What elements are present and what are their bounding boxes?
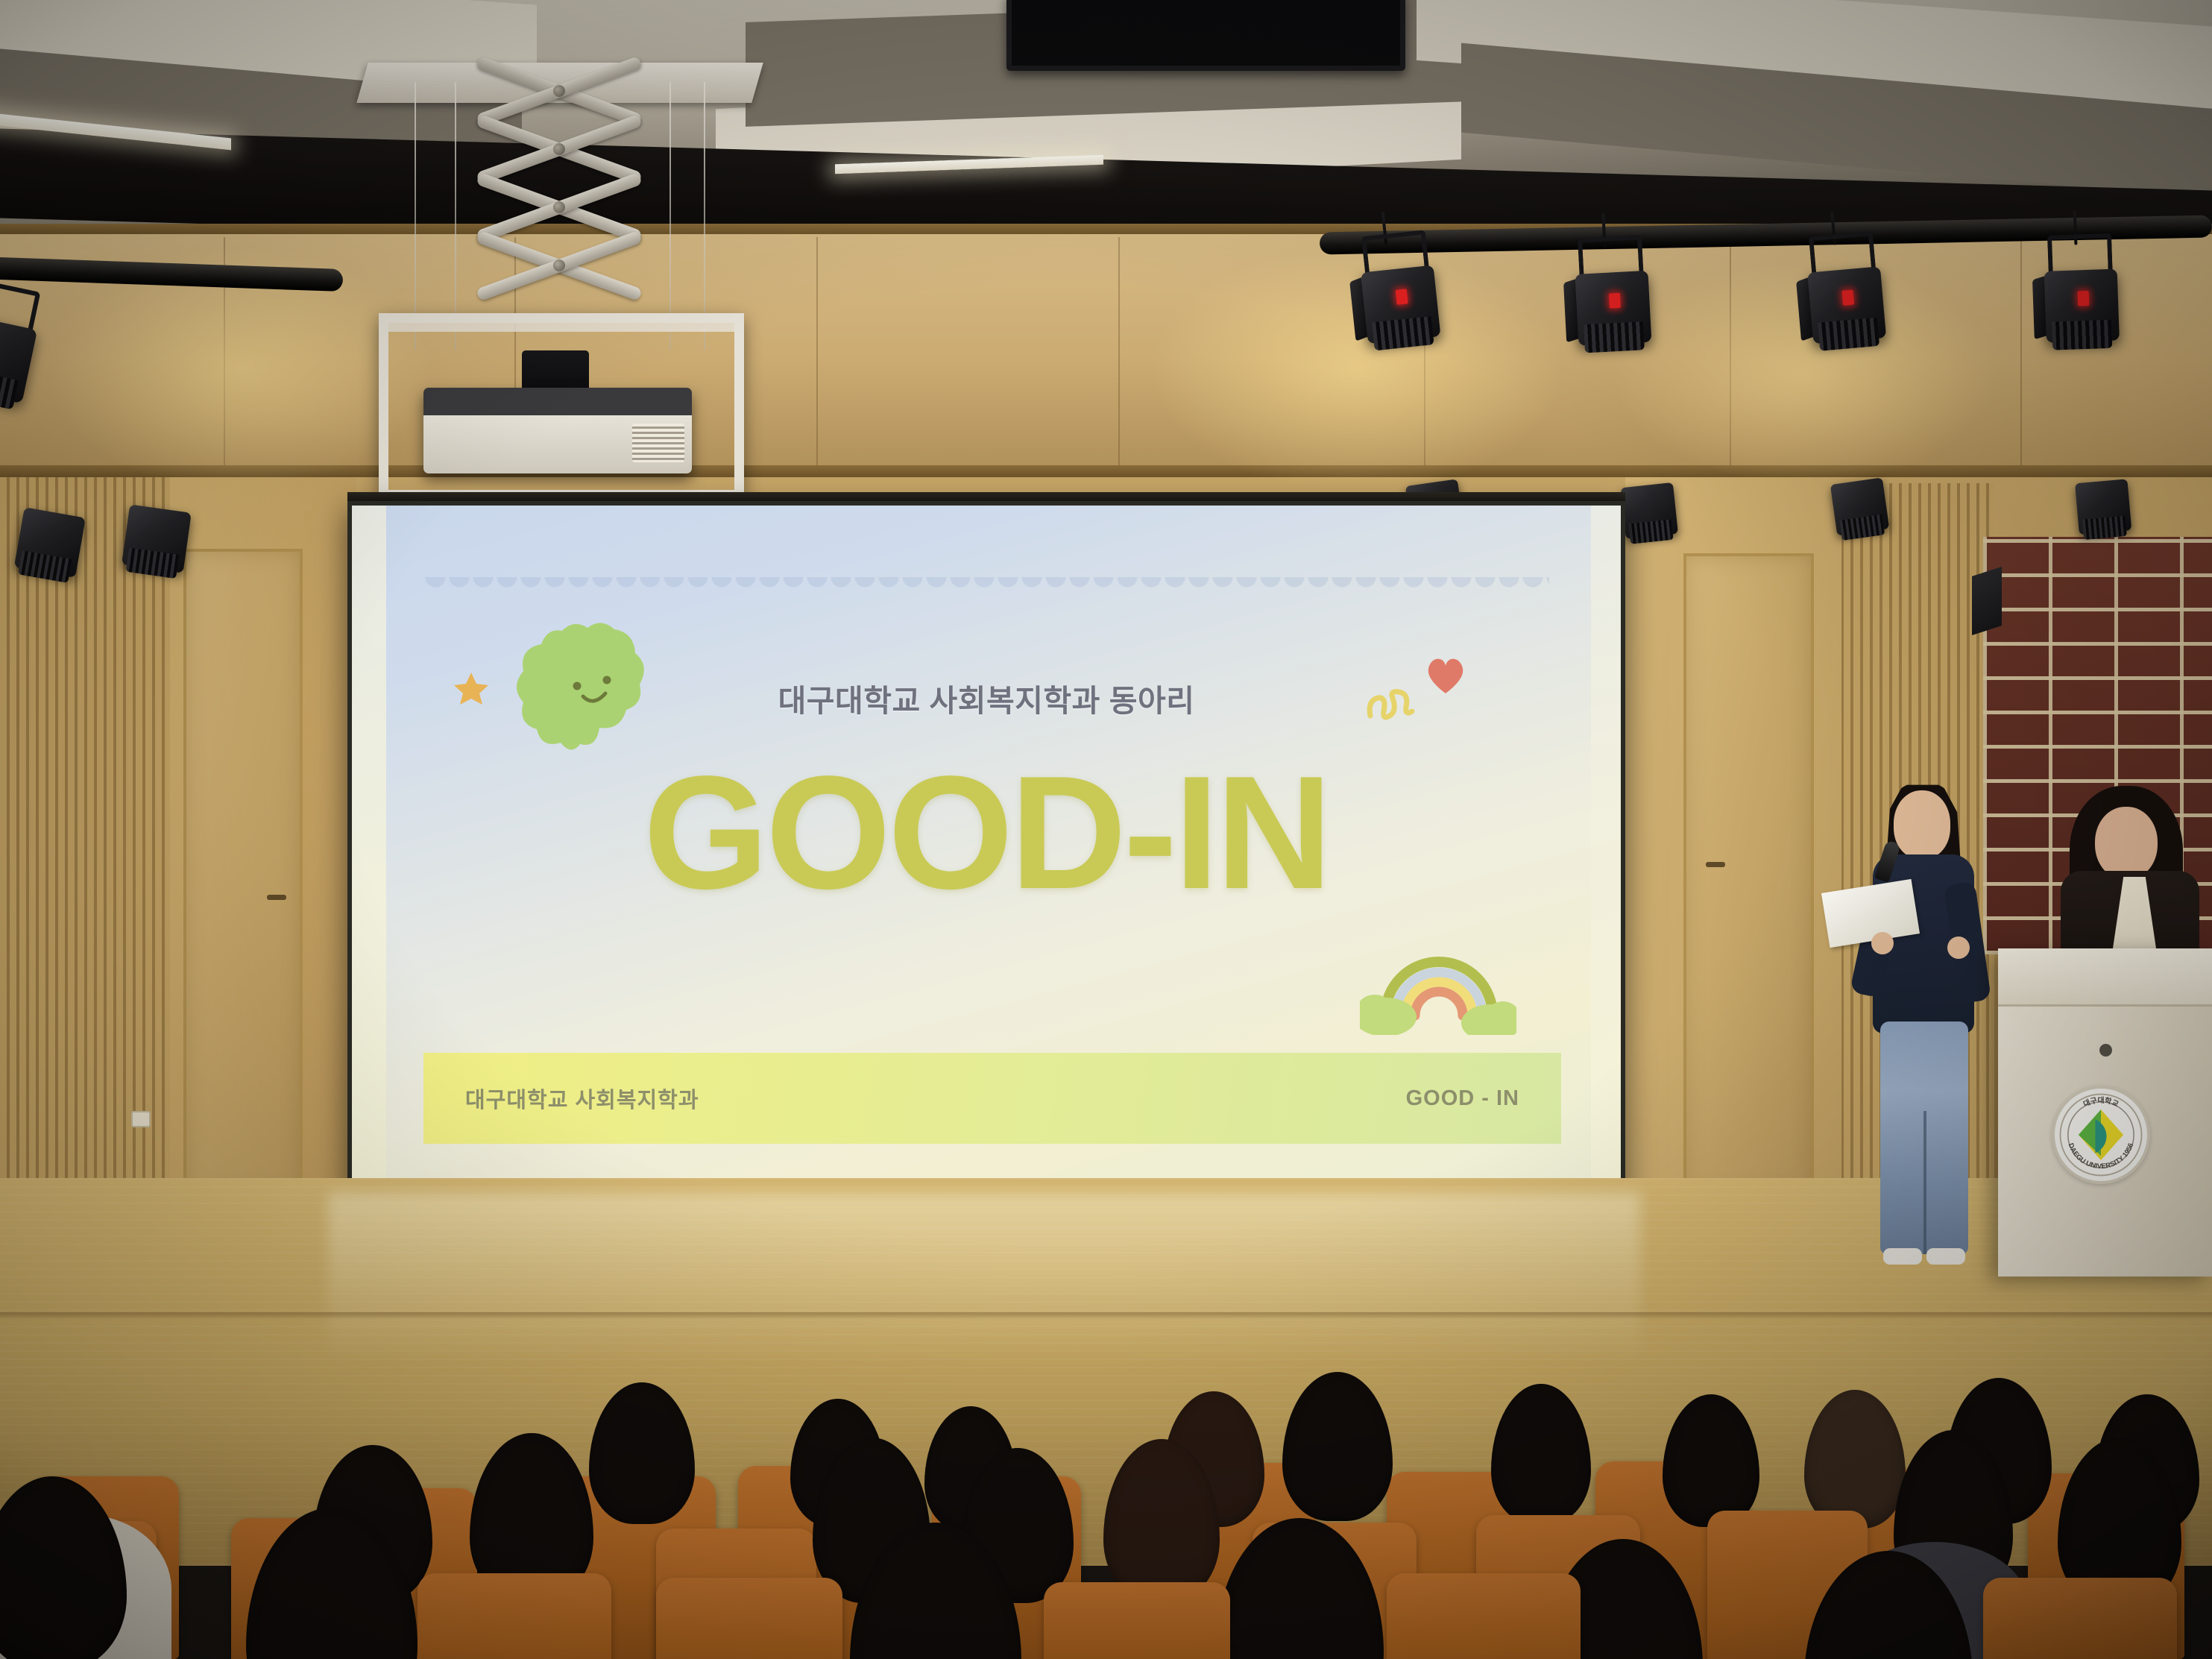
door-left-handle[interactable] bbox=[267, 895, 286, 900]
presenter-jeans bbox=[1880, 1021, 1968, 1254]
audience-head bbox=[589, 1382, 695, 1524]
wall-seam bbox=[2020, 237, 2022, 465]
audience-head bbox=[1663, 1394, 1759, 1527]
slide-footer-band: 대구대학교 사회복지학과 GOOD - IN bbox=[423, 1053, 1561, 1144]
audience-head bbox=[1282, 1372, 1393, 1521]
presenter-head bbox=[1894, 790, 1950, 859]
slide-canvas: 대구대학교 사회복지학과 동아리 GOOD-IN 대구대학교 사회복지학과 GO… bbox=[352, 506, 1621, 1206]
door-right-handle[interactable] bbox=[1706, 862, 1725, 867]
lectern-knob[interactable] bbox=[2099, 1044, 2112, 1057]
wall-trim-lower bbox=[0, 465, 2212, 477]
light-heatsink bbox=[1584, 321, 1645, 353]
light-power-led bbox=[1841, 290, 1854, 306]
ceiling-monitor bbox=[1006, 0, 1405, 71]
audience-head bbox=[1491, 1384, 1591, 1524]
audience-area bbox=[0, 1253, 2212, 1659]
wall-seam bbox=[816, 237, 818, 465]
scissor-lift bbox=[447, 75, 671, 321]
lift-wire-left bbox=[415, 82, 416, 350]
scissor-pin bbox=[553, 259, 565, 271]
acoustic-slat-wall-left2 bbox=[0, 522, 108, 1215]
jeans-seam bbox=[1923, 1111, 1926, 1254]
light-power-led bbox=[1396, 289, 1408, 304]
seat[interactable] bbox=[417, 1573, 611, 1659]
slide-subtitle: 대구대학교 사회복지학과 동아리 bbox=[352, 676, 1621, 720]
lectern-top-surface bbox=[1998, 948, 2212, 1007]
light-heatsink bbox=[1818, 318, 1879, 351]
seat[interactable] bbox=[656, 1578, 842, 1659]
door-left[interactable] bbox=[183, 549, 303, 1197]
wall-seam bbox=[1730, 237, 1731, 465]
scalloped-border-icon bbox=[423, 577, 1549, 596]
wall-seam bbox=[1118, 237, 1120, 465]
podium-presenter-head bbox=[2095, 807, 2158, 880]
projector bbox=[423, 388, 692, 473]
slide-title: GOOD-IN bbox=[352, 752, 1621, 913]
scissor-pin bbox=[553, 143, 565, 155]
light-heatsink bbox=[2082, 516, 2127, 540]
wall-speaker bbox=[1972, 567, 2002, 635]
scissor-pin bbox=[553, 201, 565, 213]
seat[interactable] bbox=[1044, 1582, 1230, 1659]
seat[interactable] bbox=[1983, 1578, 2177, 1659]
auditorium-photo: 대구대학교 사회복지학과 동아리 GOOD-IN 대구대학교 사회복지학과 GO… bbox=[0, 0, 2212, 1659]
lift-wire-right bbox=[704, 82, 705, 350]
slide-footer-left: 대구대학교 사회복지학과 bbox=[465, 1083, 699, 1114]
projector-vent bbox=[632, 424, 684, 462]
wall-upper-band bbox=[0, 224, 2212, 470]
university-emblem: 대구대학교 DAEGU UNIVERSITY 1956 bbox=[2052, 1086, 2150, 1184]
slide-footer-right: GOOD - IN bbox=[1406, 1086, 1519, 1111]
light-heatsink bbox=[2052, 320, 2112, 350]
presenter-hand-left bbox=[1871, 932, 1894, 954]
projection-screen: 대구대학교 사회복지학과 동아리 GOOD-IN 대구대학교 사회복지학과 GO… bbox=[352, 506, 1621, 1206]
rainbow-with-clouds-icon bbox=[1360, 936, 1516, 1035]
light-power-led bbox=[2078, 291, 2090, 306]
seat[interactable] bbox=[1387, 1573, 1581, 1659]
standing-presenter bbox=[1864, 790, 1991, 1282]
lectern: 대구대학교 DAEGU UNIVERSITY 1956 bbox=[1998, 948, 2212, 1276]
door-right[interactable] bbox=[1683, 553, 1814, 1196]
light-power-led bbox=[1609, 293, 1621, 309]
scissor-pin bbox=[553, 85, 565, 97]
audience-head bbox=[1804, 1390, 1906, 1529]
presenter-hand-right bbox=[1947, 936, 1970, 959]
wall-outlet bbox=[131, 1111, 151, 1127]
